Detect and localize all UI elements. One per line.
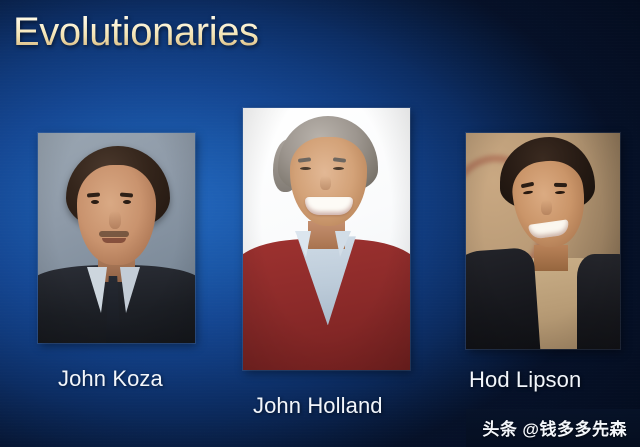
holland-collar-right (335, 231, 351, 257)
caption-john-holland: John Holland (253, 393, 383, 419)
koza-eyebrow-right (119, 192, 132, 197)
lipson-eyebrow-right (554, 182, 567, 186)
portrait-hod-lipson (466, 133, 620, 349)
portrait-john-holland-image (243, 108, 410, 370)
portrait-john-holland (243, 108, 410, 370)
watermark: 头条 @钱多多先森 (466, 409, 640, 447)
portrait-hod-lipson-image (466, 133, 620, 349)
koza-mouth (102, 238, 126, 243)
koza-eyebrow-left (87, 192, 100, 197)
koza-nose (109, 211, 121, 229)
caption-hod-lipson: Hod Lipson (469, 367, 581, 393)
watermark-handle: @钱多多先森 (522, 415, 627, 440)
caption-john-koza: John Koza (58, 366, 163, 392)
koza-moustache (99, 231, 129, 237)
holland-nose (320, 176, 331, 190)
watermark-logo: 头条 (482, 415, 517, 440)
holland-collar-left (295, 231, 311, 257)
lipson-neck (534, 245, 568, 271)
lipson-jacket-left (466, 247, 541, 349)
koza-shirt-left (87, 267, 107, 313)
holland-smile (305, 197, 353, 215)
holland-eye-right (333, 167, 344, 170)
holland-eye-left (300, 167, 311, 170)
koza-eye-left (91, 200, 99, 204)
koza-shirt-right (120, 267, 140, 313)
lipson-jacket-right (577, 254, 620, 349)
portrait-john-koza (38, 133, 195, 343)
presentation-slide: Evolutionaries (0, 0, 640, 447)
page-title: Evolutionaries (13, 7, 259, 57)
portrait-john-koza-image (38, 133, 195, 343)
lipson-nose (541, 200, 552, 215)
